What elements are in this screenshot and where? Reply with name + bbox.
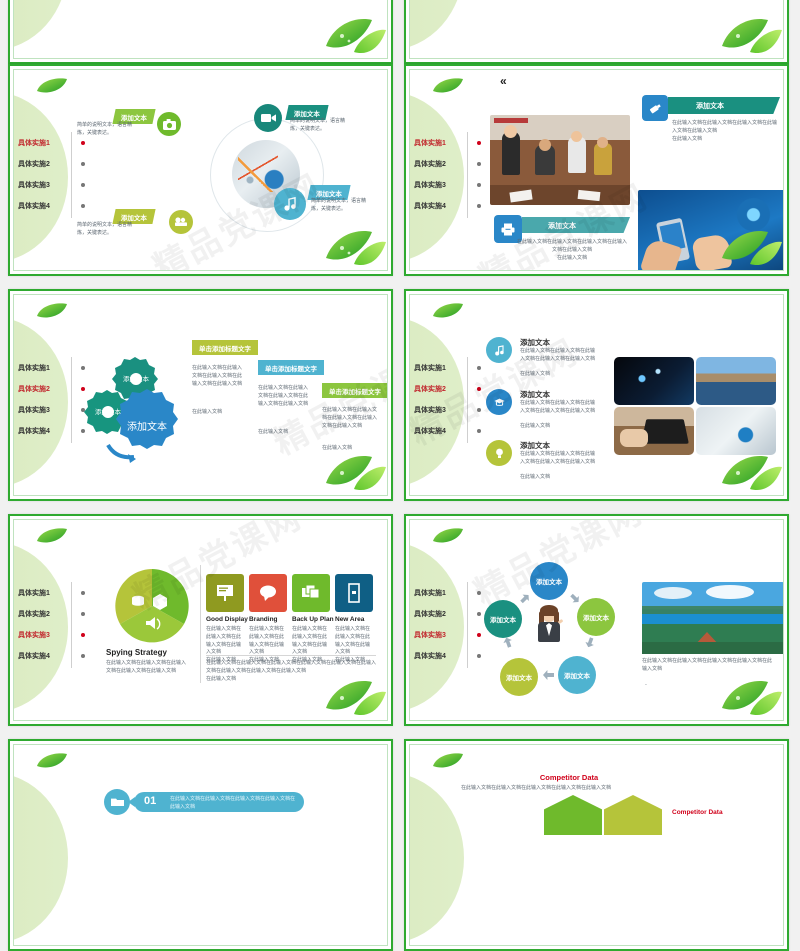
- column-tail-2: 在此输入文档: [258, 429, 312, 437]
- card-text-4: 在此输入文档在此输入文档在此输入文档在此输入文档 在此输入文档: [335, 626, 373, 665]
- competitor-text: 在此输入文档在此输入文档在此输入文档在此输入文档在此输入文档: [456, 785, 616, 793]
- column-chip-3[interactable]: 单击添加标题文字: [322, 383, 388, 398]
- presentation-board-icon[interactable]: [206, 574, 244, 612]
- sidebar-item-2[interactable]: 具体实施2: [18, 378, 78, 399]
- nav-dot-icon: [477, 141, 481, 145]
- sidebar-item-2[interactable]: 具体实施2: [18, 603, 78, 624]
- beach-resort-photo: [642, 582, 784, 654]
- graduation-cap-icon[interactable]: [486, 389, 512, 415]
- slide-row4-right[interactable]: Competitor Data 在此输入文档在此输入文档在此输入文档在此输入文档…: [404, 739, 789, 951]
- nav-label: 具体实施4: [18, 201, 50, 211]
- horizontal-divider: [206, 655, 376, 656]
- card-label-2: Branding: [249, 616, 278, 623]
- connector-arrow-icon: [518, 592, 531, 605]
- office-team-photo: [490, 115, 630, 205]
- sidebar-item-4[interactable]: 具体实施4: [414, 645, 474, 666]
- nav-dot-icon: [81, 612, 85, 616]
- leaf-decoration-icon: [716, 6, 782, 58]
- back-icon[interactable]: «: [500, 74, 507, 88]
- camera-icon[interactable]: [157, 112, 181, 136]
- row-tail-1: 在此输入文档: [520, 371, 598, 379]
- chevron-shape-1: [544, 795, 602, 835]
- bubble-1[interactable]: 添加文本: [530, 562, 568, 600]
- bubble-3[interactable]: 添加文本: [558, 656, 596, 694]
- slide-row0-right[interactable]: 在此输入文档在此输入文档在此输入文档在此 在此输入文档在此输入文档在此: [404, 0, 789, 64]
- competitor-heading-2: Competitor Data: [672, 809, 723, 816]
- slide-6[interactable]: 具体实施1 具体实施2 具体实施3 具体实施4 添加文本 添加文本 添加文本 添…: [404, 514, 789, 726]
- sidebar-item-3[interactable]: 具体实施3: [414, 624, 474, 645]
- music-note-icon[interactable]: [486, 337, 512, 363]
- side-blob: [13, 0, 68, 50]
- sidebar-item-2[interactable]: 具体实施2: [414, 603, 474, 624]
- leaf-logo-icon: [431, 752, 465, 770]
- leaf-logo-icon: [35, 752, 69, 770]
- leaf-logo-icon: [431, 527, 465, 545]
- bubble-5[interactable]: 添加文本: [484, 600, 522, 638]
- column-tail-1: 在此输入文档: [192, 409, 246, 417]
- sidebar-item-4[interactable]: 具体实施4: [414, 195, 474, 216]
- lightbulb-icon[interactable]: [486, 440, 512, 466]
- nav-dot-icon: [477, 612, 481, 616]
- sidebar-item-3[interactable]: 具体实施3: [18, 174, 78, 195]
- digital-network-photo: [614, 357, 694, 405]
- vertical-divider: [200, 565, 201, 683]
- chip-description-4: 简单的说明文本，语言精炼，关键表达。: [311, 198, 373, 214]
- bubble-2[interactable]: 添加文本: [577, 598, 615, 636]
- nav-dot-icon: [477, 183, 481, 187]
- nav-dot-icon: [477, 162, 481, 166]
- leaf-logo-icon: [431, 302, 465, 320]
- slide-nav[interactable]: 具体实施1 具体实施2 具体实施3 具体实施4: [414, 132, 474, 216]
- side-blob: [409, 773, 464, 943]
- side-blob: [409, 0, 464, 50]
- leaf-decoration-icon: [716, 668, 782, 720]
- laptop-hands-photo: [614, 407, 694, 455]
- connector-arrow-icon: [584, 636, 596, 648]
- nav-dot-icon: [477, 366, 481, 370]
- slide-row0-left[interactable]: [8, 0, 393, 64]
- slide-nav[interactable]: 具体实施1 具体实施2 具体实施3 具体实施4: [414, 357, 474, 441]
- row-title-3: 添加文本: [520, 440, 550, 451]
- usb-flash-icon[interactable]: [642, 95, 668, 121]
- sidebar-item-1[interactable]: 具体实施1: [18, 582, 78, 603]
- numbered-banner[interactable]: 01 在此输入文档在此输入文档在此输入文档在此输入文档在此输入文档: [134, 792, 304, 812]
- nav-dot-icon: [477, 408, 481, 412]
- leaf-decoration-icon: [320, 443, 386, 495]
- chevron-shape-2: [604, 795, 662, 835]
- nav-dot-icon: [477, 633, 481, 637]
- connector-arrow-icon: [502, 636, 514, 648]
- column-chip-2[interactable]: 单击添加标题文字: [258, 360, 324, 375]
- nav-dot-icon: [81, 591, 85, 595]
- sidebar-item-1[interactable]: 具体实施1: [414, 582, 474, 603]
- slide-5[interactable]: 具体实施1 具体实施2 具体实施3 具体实施4 Spying Strategy …: [8, 514, 393, 726]
- sidebar-item-2[interactable]: 具体实施2: [414, 153, 474, 174]
- pie-title: Spying Strategy: [106, 648, 167, 657]
- column-text-2: 在此输入文档在此输入文档在此输入文档在此输入文档在此输入文档: [258, 385, 312, 408]
- connector-arrow-icon: [543, 670, 554, 680]
- nav-dot-icon: [477, 204, 481, 208]
- sidebar-item-4[interactable]: 具体实施4: [18, 645, 78, 666]
- leaf-logo-icon: [35, 527, 69, 545]
- sidebar-item-3[interactable]: 具体实施3: [414, 399, 474, 420]
- row-tail-3: 在此输入文档: [520, 474, 598, 482]
- connector-arrow-icon: [568, 592, 581, 605]
- sidebar-item-4[interactable]: 具体实施4: [18, 195, 78, 216]
- card-label-3: Back Up Plan: [292, 616, 334, 623]
- nav-dot-icon: [81, 204, 85, 208]
- sidebar-item-4[interactable]: 具体实施4: [414, 420, 474, 441]
- item-text: 在此输入文档在此输入文档在此输入文档在此输入文档在此输入文档: [170, 796, 296, 812]
- copy-layers-icon[interactable]: [292, 574, 330, 612]
- nav-dot-icon: [81, 633, 85, 637]
- chip-banner-2[interactable]: 添加文本: [522, 217, 630, 233]
- nav-dot-icon: [477, 654, 481, 658]
- nav-dot-icon: [81, 183, 85, 187]
- sidebar-item-2[interactable]: 具体实施2: [18, 153, 78, 174]
- sidebar-item-1[interactable]: 具体实施1: [414, 132, 474, 153]
- chip-description-1: 简单的说明文本，语言精炼，关键表达。: [77, 122, 137, 138]
- caption-bullet: .: [645, 680, 647, 687]
- banner-pointer-icon: [128, 797, 135, 807]
- sidebar-item-3[interactable]: 具体实施3: [414, 174, 474, 195]
- sidebar-item-3[interactable]: 具体实施3: [18, 624, 78, 645]
- svg-text:添加文本: 添加文本: [127, 420, 167, 433]
- sidebar-item-1[interactable]: 具体实施1: [18, 132, 78, 153]
- nav-dot-icon: [477, 429, 481, 433]
- nav-dot-icon: [477, 591, 481, 595]
- film-projector-icon[interactable]: [169, 210, 193, 234]
- sidebar-item-3[interactable]: 具体实施3: [18, 399, 78, 420]
- card-text-2: 在此输入文档在此输入文档在此输入文档在此输入文档 在此输入文档: [249, 626, 287, 665]
- row-title-1: 添加文本: [520, 337, 550, 348]
- nav-label: 具体实施3: [18, 180, 50, 190]
- leaf-logo-icon: [431, 77, 465, 95]
- slide-nav[interactable]: 具体实施1 具体实施2 具体实施3 具体实施4: [18, 132, 78, 216]
- leaf-decoration-icon: [716, 218, 782, 270]
- chip-description-2: 简单的说明文本，语言精炼，关键表达。: [290, 118, 352, 134]
- businesswoman-avatar: [534, 606, 564, 646]
- slide-row4-left[interactable]: 01 在此输入文档在此输入文档在此输入文档在此输入文档在此输入文档: [8, 739, 393, 951]
- block-text-1: 在此输入文档在此输入文档在此输入文档在此输入文档在此输入文档 在此输入文档: [672, 120, 778, 143]
- slide-2[interactable]: « 具体实施1 具体实施2 具体实施3 具体实施4: [404, 64, 789, 276]
- ppt-preview-page: 在此输入文档在此输入文档在此输入文档在此 在此输入文档在此输入文档在此 具体实施…: [0, 0, 800, 800]
- speech-bubble-icon[interactable]: [249, 574, 287, 612]
- video-camera-icon[interactable]: [254, 104, 282, 132]
- slide-nav[interactable]: 具体实施1 具体实施2 具体实施3 具体实施4: [18, 582, 78, 666]
- card-text-1: 在此输入文档在此输入文档在此输入文档在此输入文档 在此输入文档: [206, 626, 244, 665]
- chip-banner-1[interactable]: 添加文本: [668, 97, 780, 114]
- leaf-decoration-icon: [320, 668, 386, 720]
- slide-4[interactable]: 具体实施1 具体实施2 具体实施3 具体实施4 添加文本 在此输入文档在此输入文…: [404, 289, 789, 501]
- slide-nav[interactable]: 具体实施1 具体实施2 具体实施3 具体实施4: [18, 357, 78, 441]
- nav-dot-icon: [81, 654, 85, 658]
- sidebar-item-1[interactable]: 具体实施1: [414, 357, 474, 378]
- card-text-3: 在此输入文档在此输入文档在此输入文档在此输入文档 在此输入文档: [292, 626, 330, 665]
- side-blob: [13, 773, 68, 943]
- leaf-decoration-icon: [320, 6, 386, 58]
- item-number: 01: [144, 795, 156, 807]
- svg-text:添加文本: 添加文本: [123, 374, 150, 383]
- door-icon[interactable]: [335, 574, 373, 612]
- slide-3[interactable]: 具体实施1 具体实施2 具体实施3 具体实施4: [8, 289, 393, 501]
- competitor-heading: Competitor Data: [514, 773, 624, 782]
- music-note-icon[interactable]: [274, 188, 306, 220]
- leaf-decoration-icon: [320, 218, 386, 270]
- row-text-3: 在此输入文档在此输入文档在此输入文档在此输入文档在此输入文档: [520, 451, 598, 467]
- card-label-4: New Area: [335, 616, 364, 623]
- slide-1[interactable]: 具体实施1 具体实施2 具体实施3 具体实施4 添加文本 简单的说明文本，语言精…: [8, 64, 393, 276]
- city-reflection-photo: [696, 357, 776, 405]
- pie-diagram[interactable]: [114, 568, 190, 644]
- column-chip-1[interactable]: 单击添加标题文字: [192, 340, 258, 355]
- block-text-2: 在此输入文档在此输入文档在此输入文档在此输入文档在此输入文档 在此输入文档: [516, 239, 628, 262]
- row-text-1: 在此输入文档在此输入文档在此输入文档在此输入文档在此输入文档: [520, 348, 598, 364]
- leaf-logo-icon: [35, 302, 69, 320]
- bubble-4[interactable]: 添加文本: [500, 658, 538, 696]
- leaf-logo-icon: [35, 77, 69, 95]
- column-text-3: 在此输入文档在此输入文档在此输入文档在此输入文档在此输入文档: [322, 407, 378, 430]
- nav-dot-icon: [477, 387, 481, 391]
- svg-text:添加文本: 添加文本: [95, 407, 122, 416]
- folder-icon[interactable]: [104, 789, 130, 815]
- nav-dot-icon: [81, 141, 85, 145]
- nav-label: 具体实施1: [18, 138, 50, 148]
- gear-diagram: 添加文本 添加文本 添加文本: [84, 355, 192, 465]
- column-text-1: 在此输入文档在此输入文档在此输入文档在此输入文档在此输入文档: [192, 365, 246, 388]
- nav-dot-icon: [81, 162, 85, 166]
- sidebar-item-4[interactable]: 具体实施4: [18, 420, 78, 441]
- card-label-1: Good Display: [206, 616, 248, 623]
- chip-description-3: 简单的说明文本，语言精炼，关键表达。: [77, 222, 137, 238]
- row-tail-2: 在此输入文档: [520, 423, 598, 431]
- pie-caption: 在此输入文档在此输入文档在此输入文档在此输入文档在此输入文档: [106, 660, 186, 676]
- slide-nav[interactable]: 具体实施1 具体实施2 具体实施3 具体实施4: [414, 582, 474, 666]
- sidebar-item-2[interactable]: 具体实施2: [414, 378, 474, 399]
- nav-label: 具体实施2: [18, 159, 50, 169]
- row-text-2: 在此输入文档在此输入文档在此输入文档在此输入文档在此输入文档: [520, 400, 598, 416]
- sidebar-item-1[interactable]: 具体实施1: [18, 357, 78, 378]
- row-title-2: 添加文本: [520, 389, 550, 400]
- leaf-decoration-icon: [716, 443, 782, 495]
